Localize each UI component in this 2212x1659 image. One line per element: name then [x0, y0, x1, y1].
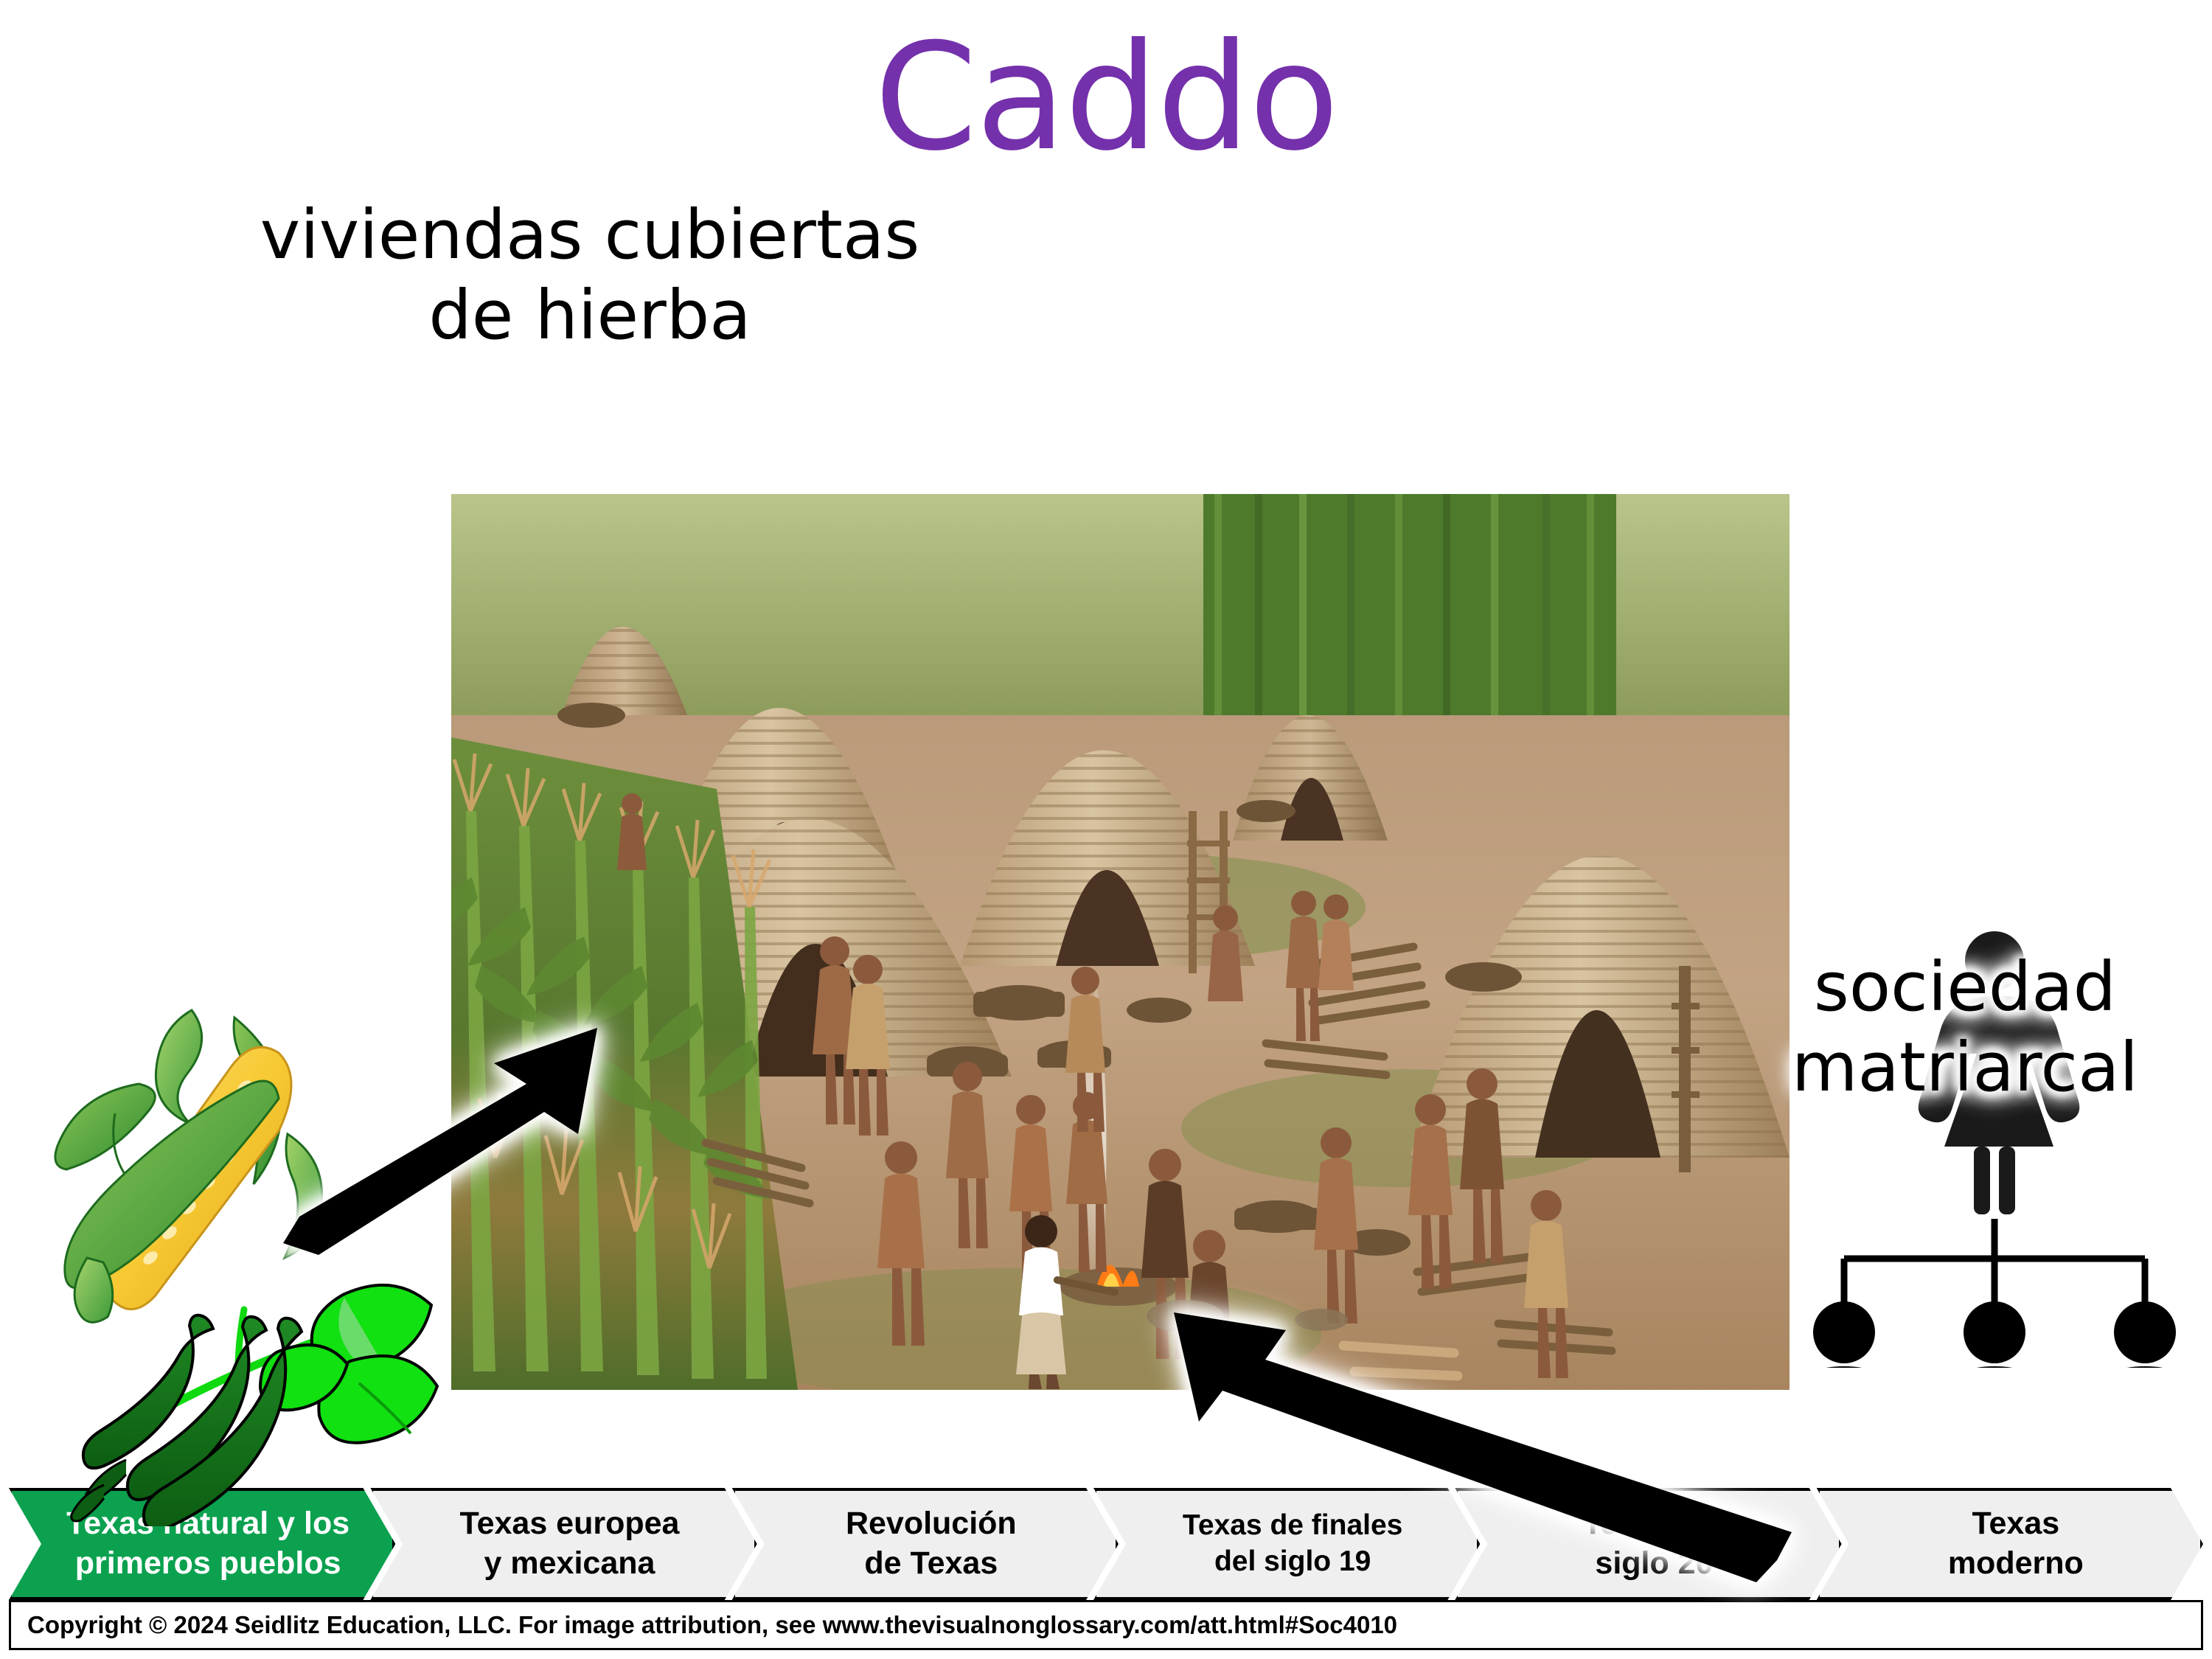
- arrow-to-cornfield-icon: [280, 995, 634, 1261]
- timeline-item-5[interactable]: Texas moderno: [1817, 1488, 2203, 1600]
- person-figure-icon: [1790, 1301, 2199, 1368]
- copyright-text: Copyright © 2024 Seidlitz Education, LLC…: [11, 1611, 1397, 1639]
- tree-connector-lines: [1844, 1219, 2145, 1303]
- timeline-item-2-label: Revolución de Texas: [807, 1504, 1043, 1584]
- timeline-item-2[interactable]: Revolución de Texas: [732, 1488, 1119, 1600]
- village-photo: [451, 494, 1790, 1390]
- timeline-item-5-label: Texas moderno: [1910, 1504, 2110, 1584]
- bean-pods-icon: [72, 1285, 437, 1526]
- arrow-to-woman-cooking-icon: [1128, 1298, 1792, 1593]
- label-matriarchal-society: sociedad matriarcal: [1729, 947, 2201, 1107]
- page-title: Caddo: [0, 21, 2212, 175]
- label-grass-dwellings: viviendas cubiertas de hierba: [177, 195, 1003, 355]
- illustration-area: viviendas cubiertas de hierba sociedad m…: [0, 170, 2212, 1482]
- footer-bar: Copyright © 2024 Seidlitz Education, LLC…: [9, 1600, 2203, 1650]
